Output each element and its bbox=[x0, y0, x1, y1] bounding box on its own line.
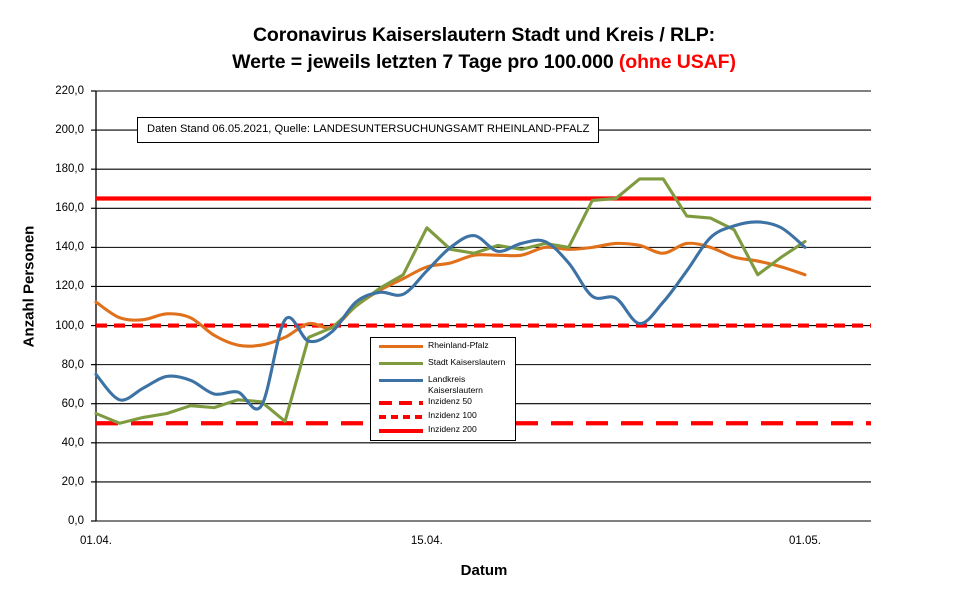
y-axis-tick-label: 120,0 bbox=[32, 280, 84, 292]
y-axis-tick-label: 220,0 bbox=[32, 85, 84, 97]
y-axis-tick-label: 100,0 bbox=[32, 320, 84, 332]
legend-swatch bbox=[379, 345, 423, 348]
legend-item: Rheinland-Pfalz bbox=[371, 340, 515, 354]
chart-legend: Rheinland-PfalzStadt KaiserslauternLandk… bbox=[370, 337, 516, 441]
y-axis-tick-label: 20,0 bbox=[32, 476, 84, 488]
y-axis-tick-label: 40,0 bbox=[32, 437, 84, 449]
legend-swatch bbox=[379, 401, 423, 405]
y-axis-tick-label: 60,0 bbox=[32, 398, 84, 410]
x-axis-tick-label: 01.04. bbox=[56, 535, 136, 547]
legend-item: Inzidenz 200 bbox=[371, 424, 515, 438]
y-axis-tick-label: 140,0 bbox=[32, 241, 84, 253]
data-source-annotation: Daten Stand 06.05.2021, Quelle: LANDESUN… bbox=[137, 117, 599, 143]
legend-label: Inzidenz 100 bbox=[428, 410, 477, 421]
plot-area bbox=[0, 0, 968, 603]
x-axis-tick-label: 01.05. bbox=[765, 535, 845, 547]
legend-item: Stadt Kaiserslautern bbox=[371, 357, 515, 371]
y-axis-tick-label: 80,0 bbox=[32, 359, 84, 371]
legend-label: Stadt Kaiserslautern bbox=[428, 357, 505, 368]
legend-item: Landkreis Kaiserslautern bbox=[371, 374, 515, 388]
y-axis-tick-label: 180,0 bbox=[32, 163, 84, 175]
series-line-rheinland-pfalz bbox=[96, 243, 805, 346]
legend-label: Inzidenz 50 bbox=[428, 396, 472, 407]
legend-item: Inzidenz 50 bbox=[371, 396, 515, 410]
y-axis-tick-label: 0,0 bbox=[32, 515, 84, 527]
legend-swatch bbox=[379, 362, 423, 365]
legend-label: Inzidenz 200 bbox=[428, 424, 477, 435]
chart-container: Coronavirus Kaiserslautern Stadt und Kre… bbox=[0, 0, 968, 603]
y-axis-tick-label: 200,0 bbox=[32, 124, 84, 136]
y-axis-tick-label: 160,0 bbox=[32, 202, 84, 214]
legend-item: Inzidenz 100 bbox=[371, 410, 515, 424]
legend-swatch bbox=[379, 379, 423, 382]
legend-label: Rheinland-Pfalz bbox=[428, 340, 489, 351]
legend-swatch bbox=[379, 429, 423, 433]
legend-label: Landkreis Kaiserslautern bbox=[428, 374, 483, 396]
x-axis-tick-label: 15.04. bbox=[387, 535, 467, 547]
legend-swatch bbox=[379, 415, 423, 419]
